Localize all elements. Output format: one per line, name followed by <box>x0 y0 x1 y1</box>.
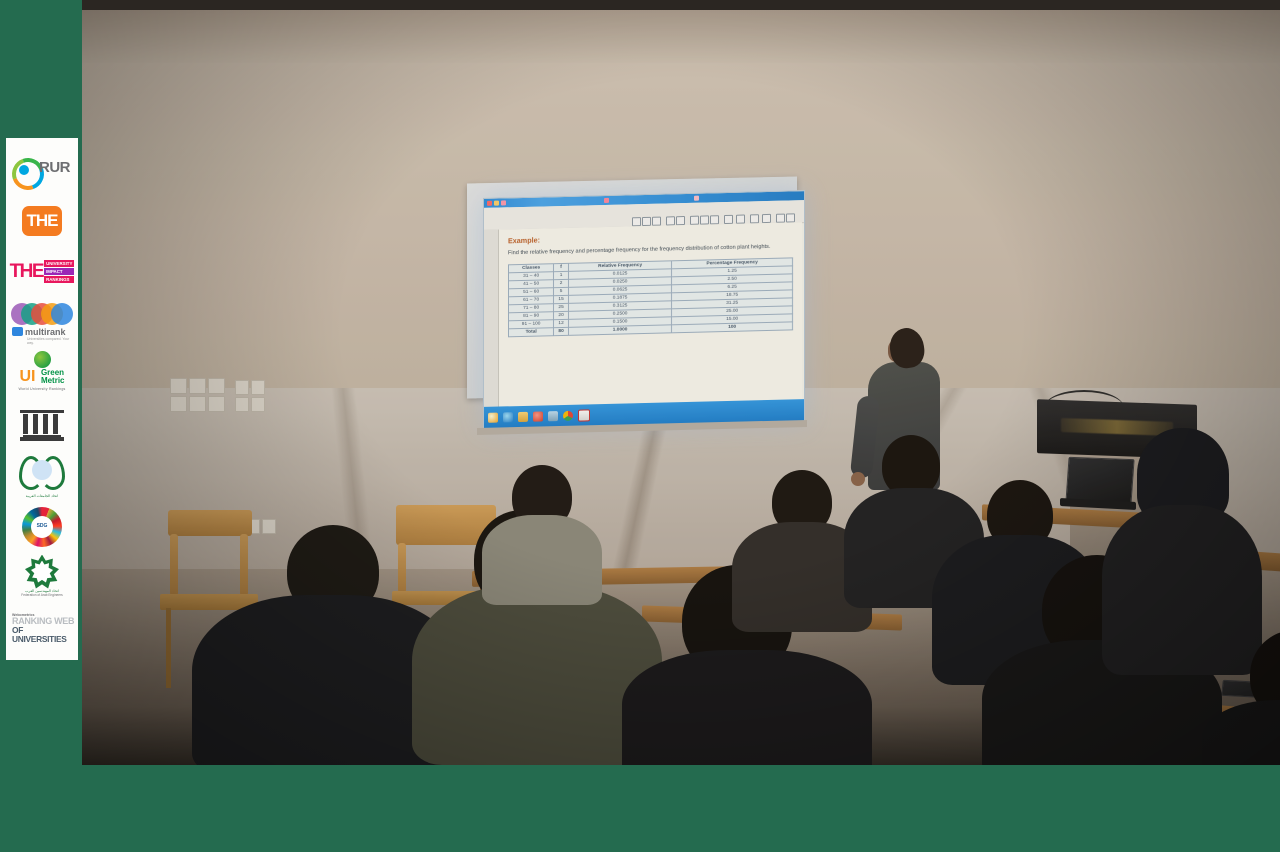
start-icon[interactable] <box>488 413 498 423</box>
the-world-university-rankings-logo: THE <box>8 195 76 246</box>
file-explorer-icon[interactable] <box>518 412 528 422</box>
webometrics-line-3: OF UNIVERSITIES <box>12 626 76 644</box>
rur-logo: RUR <box>8 144 76 195</box>
student-body-hijab <box>1102 505 1262 675</box>
the-impact-text: THE <box>10 262 44 281</box>
student-body-4 <box>622 650 872 765</box>
pdf-icon[interactable] <box>578 409 590 421</box>
ui-greenmetric-logo: UI Green Metric World University Ranking… <box>8 348 76 399</box>
arab-engineers-star-icon <box>25 555 59 589</box>
impact-line-3: RANKINGS <box>44 276 74 283</box>
footer-bar: WWW.UOMUS.EDU.IQ 6163 الأولـــى علـى الج… <box>0 765 1280 852</box>
light-switch-panel-right <box>235 380 265 412</box>
ministry-building-logo <box>8 399 76 450</box>
sdg-text: SDG <box>31 516 53 538</box>
multirank-text: multirank <box>25 327 66 337</box>
instructor-hand <box>851 472 865 486</box>
multirank-sub: Universities compared. Your way. <box>27 337 75 345</box>
chrome-icon[interactable] <box>563 411 573 421</box>
sdg-wheel-icon: SDG <box>22 507 62 547</box>
federation-of-arab-engineers-logo: اتحاد المهندسين العرب Federation of Arab… <box>8 552 76 603</box>
impact-line-2: IMPACT <box>44 268 74 275</box>
slide-heading: Example: <box>508 229 793 245</box>
aaru-caption: اتحاد الجامعات العربية <box>13 494 71 498</box>
light-switch-panel-left <box>170 378 225 412</box>
accreditation-logo-strip: RUR THE THE UNIVERSITY IMPACT RANKINGS m… <box>6 138 78 660</box>
classroom-photo: Example: Find the relative frequency and… <box>82 10 1280 765</box>
podium-emblem <box>1061 418 1173 436</box>
building-icon <box>20 408 64 442</box>
greenmetric-metric-text: Metric <box>41 376 65 385</box>
greenmetric-ui-text: UI <box>19 368 35 386</box>
slide-prompt: Find the relative frequency and percenta… <box>508 243 793 257</box>
top-dark-strip <box>82 0 1280 10</box>
impact-line-1: UNIVERSITY <box>44 260 74 267</box>
association-of-arab-universities-logo: اتحاد الجامعات العربية <box>8 450 76 501</box>
media-icon[interactable] <box>533 411 543 421</box>
projected-screen: Example: Find the relative frequency and… <box>483 190 805 430</box>
store-icon[interactable] <box>548 411 558 421</box>
ceiling <box>82 10 1280 63</box>
pdf-page-thumbnails[interactable] <box>484 230 499 407</box>
the-logo-text: THE <box>22 206 62 236</box>
slide-content: Example: Find the relative frequency and… <box>499 222 802 406</box>
fae-caption-en: Federation of Arab Engineers <box>13 593 71 597</box>
frequency-table: ClassesfRelative FrequencyPercentage Fre… <box>508 257 793 337</box>
edge-icon[interactable] <box>503 412 513 422</box>
rur-logo-text: RUR <box>39 159 70 176</box>
u-multirank-logo: multirank Universities compared. Your wa… <box>8 297 76 348</box>
sdg-wheel-logo: SDG <box>8 501 76 552</box>
the-university-impact-rankings-logo: THE UNIVERSITY IMPACT RANKINGS <box>8 246 76 297</box>
poster-root: Example: Find the relative frequency and… <box>0 0 1280 852</box>
student-body-3 <box>482 515 602 605</box>
greenmetric-footer-text: World University Rankings <box>10 387 74 391</box>
greenmetric-globe-icon <box>34 351 51 368</box>
table-body: 31 – 4010.01251.2541 – 5020.02502.5051 –… <box>509 266 793 337</box>
webometrics-logo: Webometrics RANKING WEB OF UNIVERSITIES <box>8 603 76 654</box>
